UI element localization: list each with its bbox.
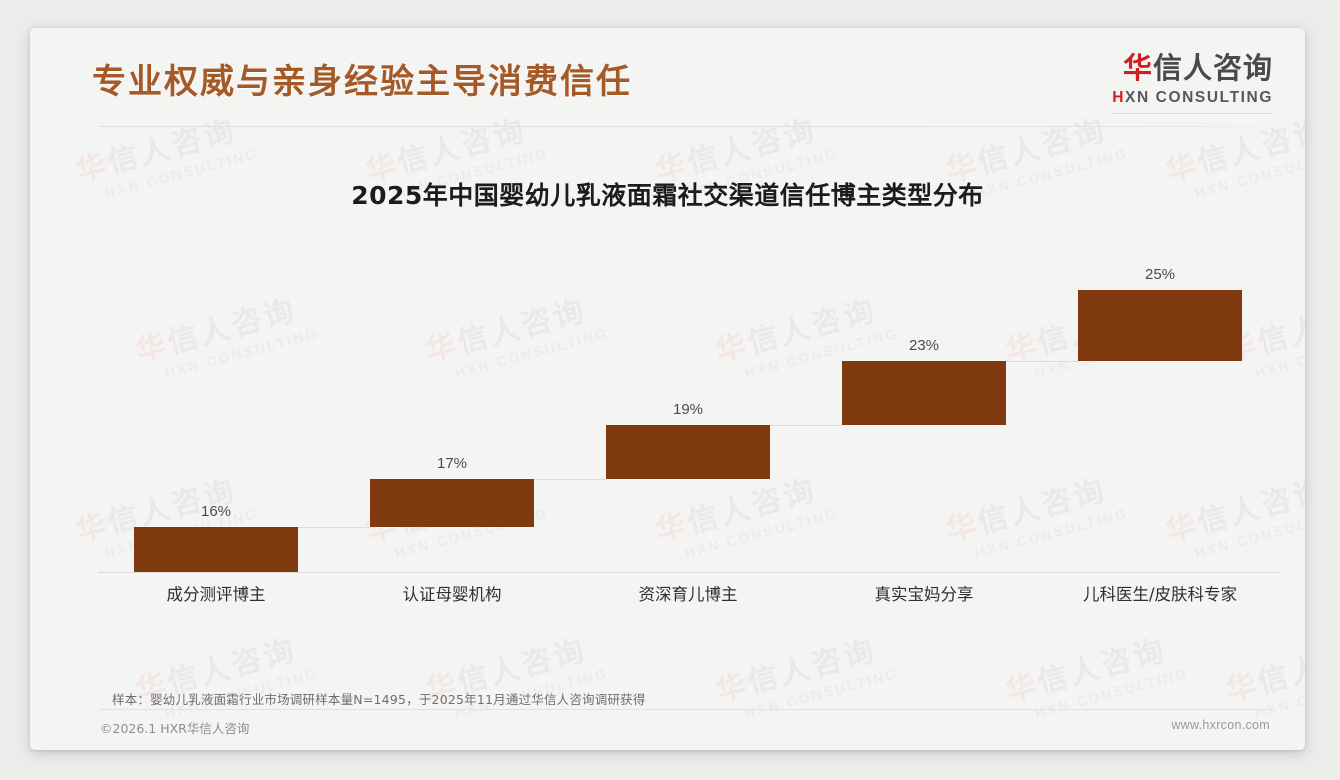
chart-x-axis-line — [98, 572, 1280, 573]
watermark-en: HXN CONSULTING — [1033, 665, 1190, 721]
chart-bar-value-label: 19% — [638, 401, 738, 418]
chart-bar[interactable] — [370, 479, 534, 527]
brand-logo-underline — [1112, 113, 1273, 114]
brand-logo-cn-rest: 信人咨询 — [1153, 51, 1273, 85]
footer-copyright: ©2026.1 HXR华信人咨询 — [100, 718, 249, 737]
brand-logo-cn: 华信人咨询 — [1112, 54, 1273, 83]
watermark-cn: 华信人咨询 — [1220, 621, 1305, 710]
brand-logo-en: HXN CONSULTING — [1112, 90, 1273, 106]
chart-category-label: 认证母婴机构 — [334, 581, 570, 605]
chart-title: 2025年中国婴幼儿乳液面霜社交渠道信任博主类型分布 — [30, 176, 1305, 212]
watermark: 华信人咨询HXN CONSULTING — [1000, 621, 1190, 727]
chart-category-labels: 成分测评博主认证母婴机构资深育儿博主真实宝妈分享儿科医生/皮肤科专家 — [98, 581, 1280, 611]
header-divider — [100, 126, 1275, 127]
chart-category-label: 真实宝妈分享 — [806, 581, 1042, 605]
chart-category-label: 成分测评博主 — [98, 581, 334, 605]
footer-divider — [100, 709, 1275, 710]
brand-logo-cn-accent: 华 — [1123, 51, 1153, 85]
chart-step-connector — [534, 479, 606, 480]
slide-root: 华信人咨询HXN CONSULTING华信人咨询HXN CONSULTING华信… — [0, 0, 1340, 780]
chart-step-connector — [1006, 361, 1078, 362]
watermark: 华信人咨询HXN CONSULTING — [130, 621, 320, 727]
brand-logo-en-rest: XN CONSULTING — [1125, 89, 1273, 106]
chart-bar-value-label: 17% — [402, 455, 502, 472]
chart-category-label: 资深育儿博主 — [570, 581, 806, 605]
chart-bar[interactable] — [134, 527, 298, 572]
brand-logo-en-accent: H — [1112, 89, 1125, 106]
chart-bar-value-label: 25% — [1110, 266, 1210, 283]
chart-bar-value-label: 16% — [166, 503, 266, 520]
chart-bar-value-label: 23% — [874, 337, 974, 354]
watermark-en: HXN CONSULTING — [1253, 665, 1305, 721]
source-note: 样本：婴幼儿乳液面霜行业市场调研样本量N=1495，于2025年11月通过华信人… — [112, 689, 646, 708]
chart-bar[interactable] — [842, 361, 1006, 426]
watermark: 华信人咨询HXN CONSULTING — [1220, 621, 1305, 727]
chart-bar[interactable] — [1078, 290, 1242, 361]
watermark: 华信人咨询HXN CONSULTING — [710, 621, 900, 727]
chart-step-connector — [770, 425, 842, 426]
slide-card: 华信人咨询HXN CONSULTING华信人咨询HXN CONSULTING华信… — [30, 28, 1305, 750]
watermark-cn: 华信人咨询 — [710, 621, 896, 710]
watermark: 华信人咨询HXN CONSULTING — [420, 621, 610, 727]
brand-logo: 华信人咨询 HXN CONSULTING — [1112, 54, 1273, 114]
watermark-en: HXN CONSULTING — [743, 665, 900, 721]
slide-header: 专业权威与亲身经验主导消费信任 华信人咨询 HXN CONSULTING — [30, 28, 1305, 128]
footer-website: www.hxrcon.com — [1171, 718, 1270, 732]
chart-step-connector — [298, 527, 370, 528]
page-title: 专业权威与亲身经验主导消费信任 — [92, 54, 632, 103]
watermark-cn: 华信人咨询 — [1000, 621, 1186, 710]
chart-bar[interactable] — [606, 425, 770, 479]
chart-category-label: 儿科医生/皮肤科专家 — [1042, 581, 1278, 605]
chart-plot-area: 16%17%19%23%25% — [98, 248, 1278, 572]
